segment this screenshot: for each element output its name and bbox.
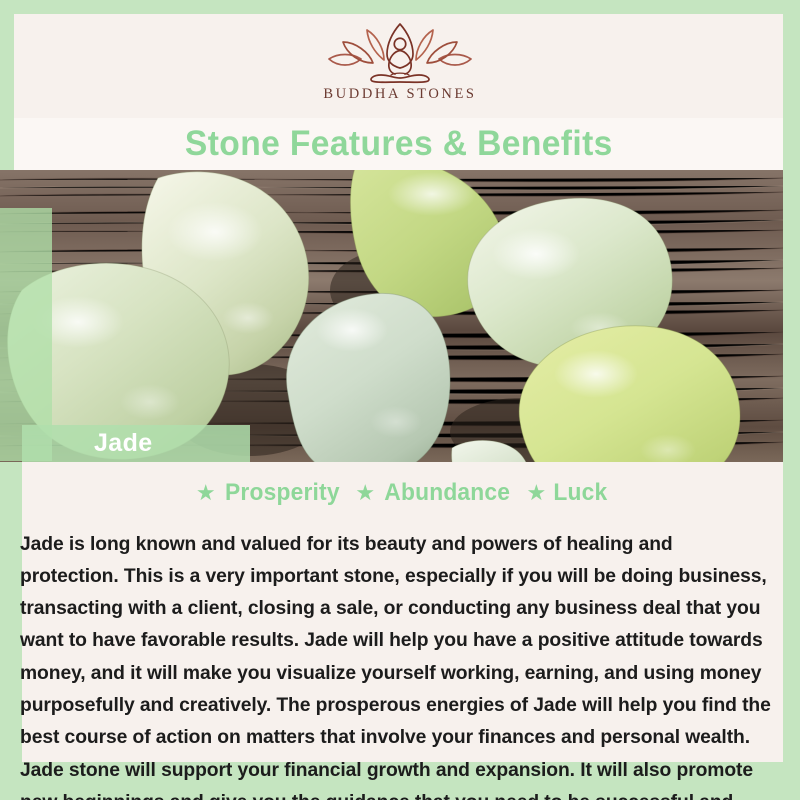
benefit-label-abundance: Abundance <box>384 479 510 507</box>
benefits-row: ★ Prosperity ★ Abundance ★ Luck <box>22 478 783 508</box>
benefit-item: ★ Prosperity <box>196 479 342 507</box>
lotus-meditation-figure-icon <box>325 22 475 84</box>
frame-right-edge <box>783 0 800 800</box>
stone-info-poster: BUDDHA STONES Stone Features & Benefits <box>0 0 800 800</box>
page-title: Stone Features & Benefits <box>185 124 613 164</box>
star-icon: ★ <box>196 482 216 504</box>
stone-name-banner: Jade <box>22 425 250 462</box>
star-icon: ★ <box>527 482 547 504</box>
star-icon: ★ <box>355 482 375 504</box>
stone-description: Jade is long known and valued for its be… <box>20 528 774 800</box>
page-title-band: Stone Features & Benefits <box>14 118 783 170</box>
brand-logo: BUDDHA STONES <box>0 22 800 112</box>
benefit-item: ★ Abundance <box>355 479 513 507</box>
benefit-item: ★ Luck <box>527 479 610 507</box>
photo-left-accent-stripe <box>0 208 52 461</box>
stone-photo <box>0 170 783 462</box>
frame-top-edge <box>0 0 800 14</box>
brand-wordmark: BUDDHA STONES <box>323 86 476 103</box>
benefit-label-prosperity: Prosperity <box>225 479 340 507</box>
stone-name-label: Jade <box>94 429 153 458</box>
benefit-label-luck: Luck <box>554 479 608 507</box>
